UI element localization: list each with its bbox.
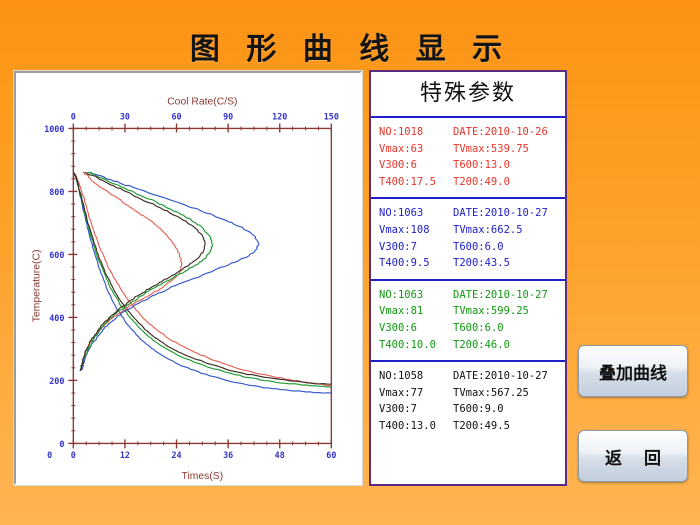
svg-text:0: 0: [47, 450, 52, 460]
overlay-curves-button[interactable]: 叠加曲线: [578, 345, 688, 397]
svg-text:36: 36: [223, 450, 233, 460]
svg-text:30: 30: [120, 112, 130, 122]
chart-panel: 0200400600800100001224364860003060901201…: [14, 71, 362, 485]
temperature-time-chart: 0200400600800100001224364860003060901201…: [16, 73, 360, 483]
svg-text:0: 0: [59, 439, 64, 449]
param-vmax: Vmax:63: [379, 141, 453, 158]
svg-text:600: 600: [49, 250, 64, 260]
param-v300: V300:6: [379, 320, 453, 337]
svg-text:120: 120: [272, 112, 287, 122]
param-date: DATE:2010-10-27: [453, 287, 548, 304]
param-v300: V300:7: [379, 401, 453, 418]
param-date: DATE:2010-10-26: [453, 124, 548, 141]
svg-text:60: 60: [326, 450, 336, 460]
param-t200: T200:49.0: [453, 174, 510, 191]
param-no: NO:1058: [379, 368, 453, 385]
svg-text:90: 90: [223, 112, 233, 122]
special-parameters-panel: 特殊参数 NO:1018DATE:2010-10-26 Vmax:63TVmax…: [369, 70, 567, 486]
param-v300: V300:7: [379, 239, 453, 256]
param-vmax: Vmax:77: [379, 385, 453, 402]
param-tvmax: TVmax:662.5: [453, 222, 523, 239]
param-no: NO:1063: [379, 287, 453, 304]
param-no: NO:1018: [379, 124, 453, 141]
param-date: DATE:2010-10-27: [453, 368, 548, 385]
parameter-block: NO:1063DATE:2010-10-27 Vmax:108TVmax:662…: [371, 197, 565, 278]
param-t400: T400:13.0: [379, 418, 453, 435]
svg-text:400: 400: [49, 313, 64, 323]
param-t200: T200:49.5: [453, 418, 510, 435]
parameter-block: NO:1058DATE:2010-10-27 Vmax:77TVmax:567.…: [371, 360, 565, 441]
svg-text:Cool Rate(C/S): Cool Rate(C/S): [167, 97, 237, 108]
svg-text:1000: 1000: [44, 124, 64, 134]
param-t400: T400:17.5: [379, 174, 453, 191]
svg-text:0: 0: [71, 450, 76, 460]
application-window: 图 形 曲 线 显 示 0200400600800100001224364860…: [0, 0, 700, 525]
param-tvmax: TVmax:567.25: [453, 385, 529, 402]
param-tvmax: TVmax:599.25: [453, 303, 529, 320]
special-parameters-title: 特殊参数: [371, 72, 565, 116]
param-date: DATE:2010-10-27: [453, 205, 548, 222]
param-vmax: Vmax:108: [379, 222, 453, 239]
parameter-block: NO:1063DATE:2010-10-27 Vmax:81TVmax:599.…: [371, 279, 565, 360]
svg-text:0: 0: [71, 112, 76, 122]
svg-text:Temperature(C): Temperature(C): [32, 250, 43, 323]
param-t400: T400:9.5: [379, 255, 453, 272]
parameter-block: NO:1018DATE:2010-10-26 Vmax:63TVmax:539.…: [371, 116, 565, 197]
param-v300: V300:6: [379, 157, 453, 174]
param-tvmax: TVmax:539.75: [453, 141, 529, 158]
svg-text:Times(S): Times(S): [182, 471, 224, 482]
param-t600: T600:13.0: [453, 157, 510, 174]
param-no: NO:1063: [379, 205, 453, 222]
svg-text:12: 12: [120, 450, 130, 460]
param-t600: T600:9.0: [453, 401, 504, 418]
param-t400: T400:10.0: [379, 337, 453, 354]
page-title: 图 形 曲 线 显 示: [0, 24, 700, 68]
param-t600: T600:6.0: [453, 239, 504, 256]
param-t200: T200:43.5: [453, 255, 510, 272]
svg-text:200: 200: [49, 376, 64, 386]
svg-text:150: 150: [324, 112, 339, 122]
param-t200: T200:46.0: [453, 337, 510, 354]
svg-text:60: 60: [171, 112, 181, 122]
svg-text:48: 48: [275, 450, 285, 460]
svg-text:800: 800: [49, 187, 64, 197]
back-button[interactable]: 返 回: [578, 430, 688, 482]
svg-text:24: 24: [171, 450, 181, 460]
param-vmax: Vmax:81: [379, 303, 453, 320]
param-t600: T600:6.0: [453, 320, 504, 337]
